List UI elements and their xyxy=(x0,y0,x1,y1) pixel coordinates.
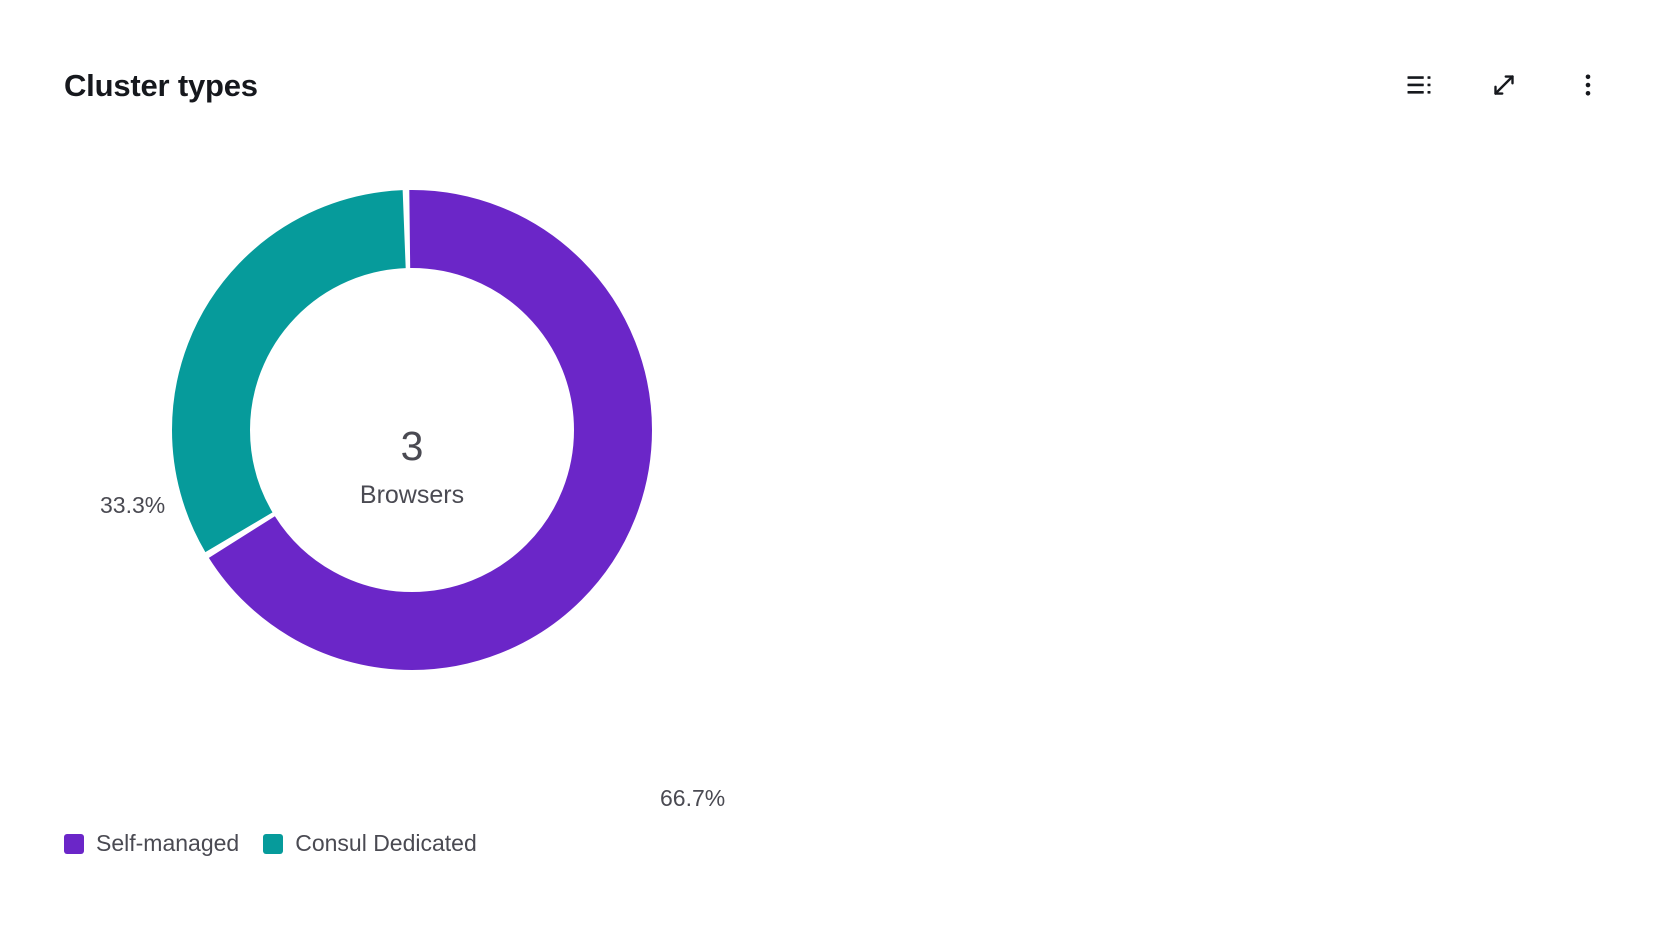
donut-center-label: Browsers xyxy=(360,481,464,509)
percentage-label-consul-dedicated: 33.3% xyxy=(100,492,165,519)
legend-swatch-self-managed xyxy=(64,834,84,854)
more-options-icon[interactable] xyxy=(1566,63,1610,107)
donut-chart: 3 Browsers xyxy=(172,190,652,670)
donut-center-value: 3 xyxy=(401,423,424,469)
legend-item-self-managed[interactable]: Self-managed xyxy=(64,830,239,857)
legend-swatch-consul-dedicated xyxy=(263,834,283,854)
legend-label-consul-dedicated: Consul Dedicated xyxy=(295,830,477,857)
cluster-types-card: Cluster types xyxy=(0,0,1672,928)
expand-icon[interactable] xyxy=(1482,63,1526,107)
page-title: Cluster types xyxy=(64,70,258,101)
card-header: Cluster types xyxy=(0,0,1672,170)
legend-toggle-icon[interactable] xyxy=(1398,63,1442,107)
legend-item-consul-dedicated[interactable]: Consul Dedicated xyxy=(263,830,477,857)
chart-legend: Self-managed Consul Dedicated xyxy=(64,830,477,857)
chart-area: 3 Browsers 33.3% 66.7% xyxy=(0,170,1672,790)
header-actions xyxy=(1398,63,1610,107)
legend-label-self-managed: Self-managed xyxy=(96,830,239,857)
percentage-label-self-managed: 66.7% xyxy=(660,785,725,812)
